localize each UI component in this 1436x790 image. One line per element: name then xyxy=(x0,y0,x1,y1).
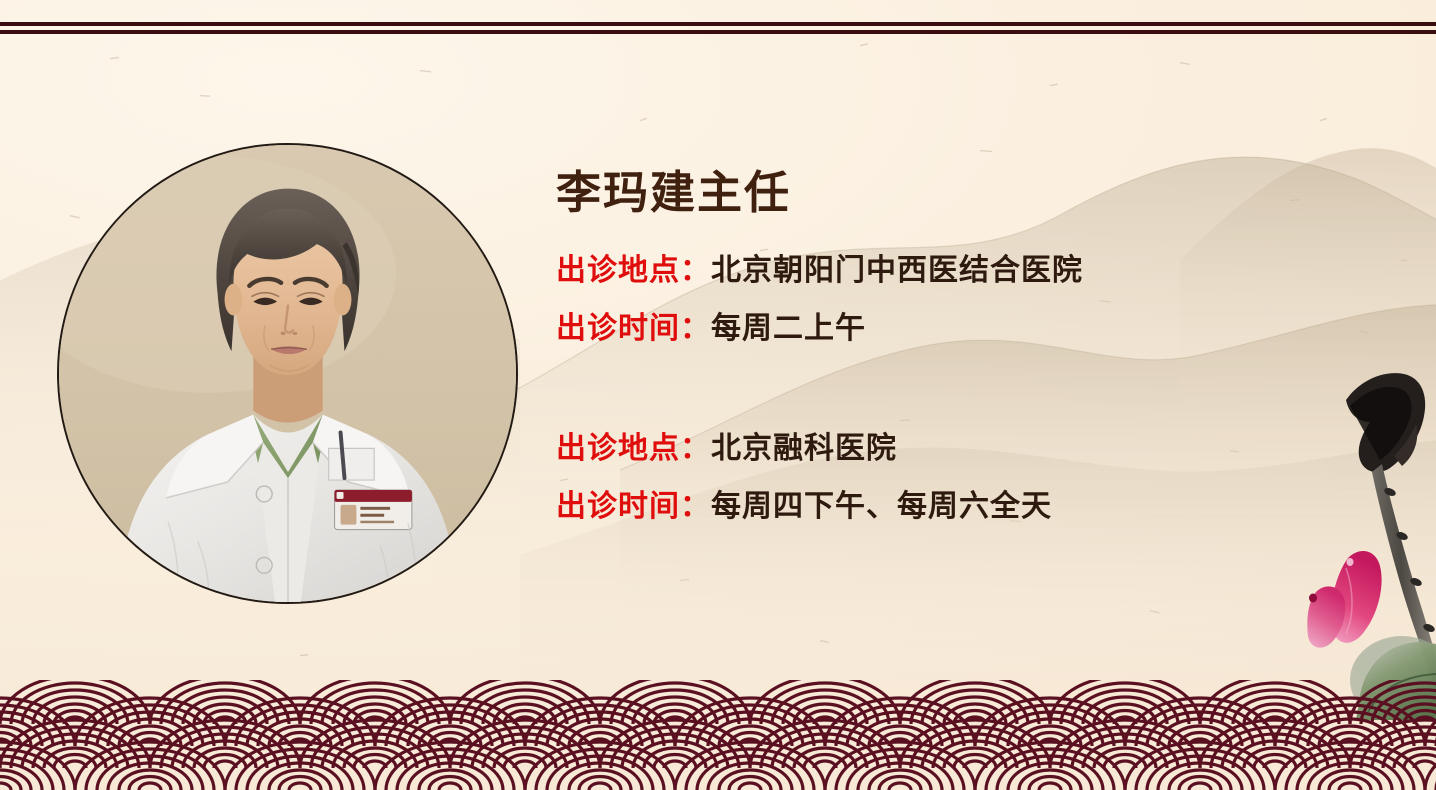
clinic-1-time-value: 每周二上午 xyxy=(711,314,866,344)
wave-row-3 xyxy=(0,720,1436,768)
lotus-decoration xyxy=(1286,360,1436,720)
wave-row-2 xyxy=(0,698,1436,746)
lotus-petal-side xyxy=(1307,586,1345,647)
clinic-2-time-row: 出诊时间： 每周四下午、每周六全天 xyxy=(556,492,1276,522)
clinic-2-time-label: 出诊时间： xyxy=(556,492,711,522)
wave-row-1 xyxy=(0,680,1436,724)
top-rule-line-1 xyxy=(0,22,1436,26)
seigaiha-wave-border xyxy=(0,680,1436,790)
doctor-info-panel: 李玛建主任 出诊地点： 北京朝阳门中西医结合医院 出诊时间： 每周二上午 出诊地… xyxy=(556,168,1276,550)
clinic-1-location-row: 出诊地点： 北京朝阳门中西医结合医院 xyxy=(556,256,1276,286)
clinic-block-separator xyxy=(556,372,1276,434)
clinic-2-time-value: 每周四下午、每周六全天 xyxy=(711,492,1052,522)
ink-brush-leaf xyxy=(1346,373,1425,472)
clinic-1-location-label: 出诊地点： xyxy=(556,256,711,286)
clinic-2-location-value: 北京融科医院 xyxy=(711,434,897,464)
lotus-leaf xyxy=(1356,642,1436,720)
clinic-1-time-row: 出诊时间： 每周二上午 xyxy=(556,314,1276,344)
lotus-leaf-mist xyxy=(1350,636,1436,720)
top-rule-line-2 xyxy=(0,30,1436,34)
clinic-1-time-label: 出诊时间： xyxy=(556,314,711,344)
wave-row-4 xyxy=(0,742,1436,790)
poster-canvas: 李玛建主任 出诊地点： 北京朝阳门中西医结合医院 出诊时间： 每周二上午 出诊地… xyxy=(0,0,1436,790)
clinic-2-location-row: 出诊地点： 北京融科医院 xyxy=(556,434,1276,464)
clinic-1-location-value: 北京朝阳门中西医结合医院 xyxy=(711,256,1083,286)
doctor-name: 李玛建主任 xyxy=(556,168,1276,218)
lotus-petal-main xyxy=(1331,551,1382,643)
lotus-stem xyxy=(1372,464,1436,690)
clinic-2-location-label: 出诊地点： xyxy=(556,434,711,464)
doctor-portrait xyxy=(57,143,518,604)
